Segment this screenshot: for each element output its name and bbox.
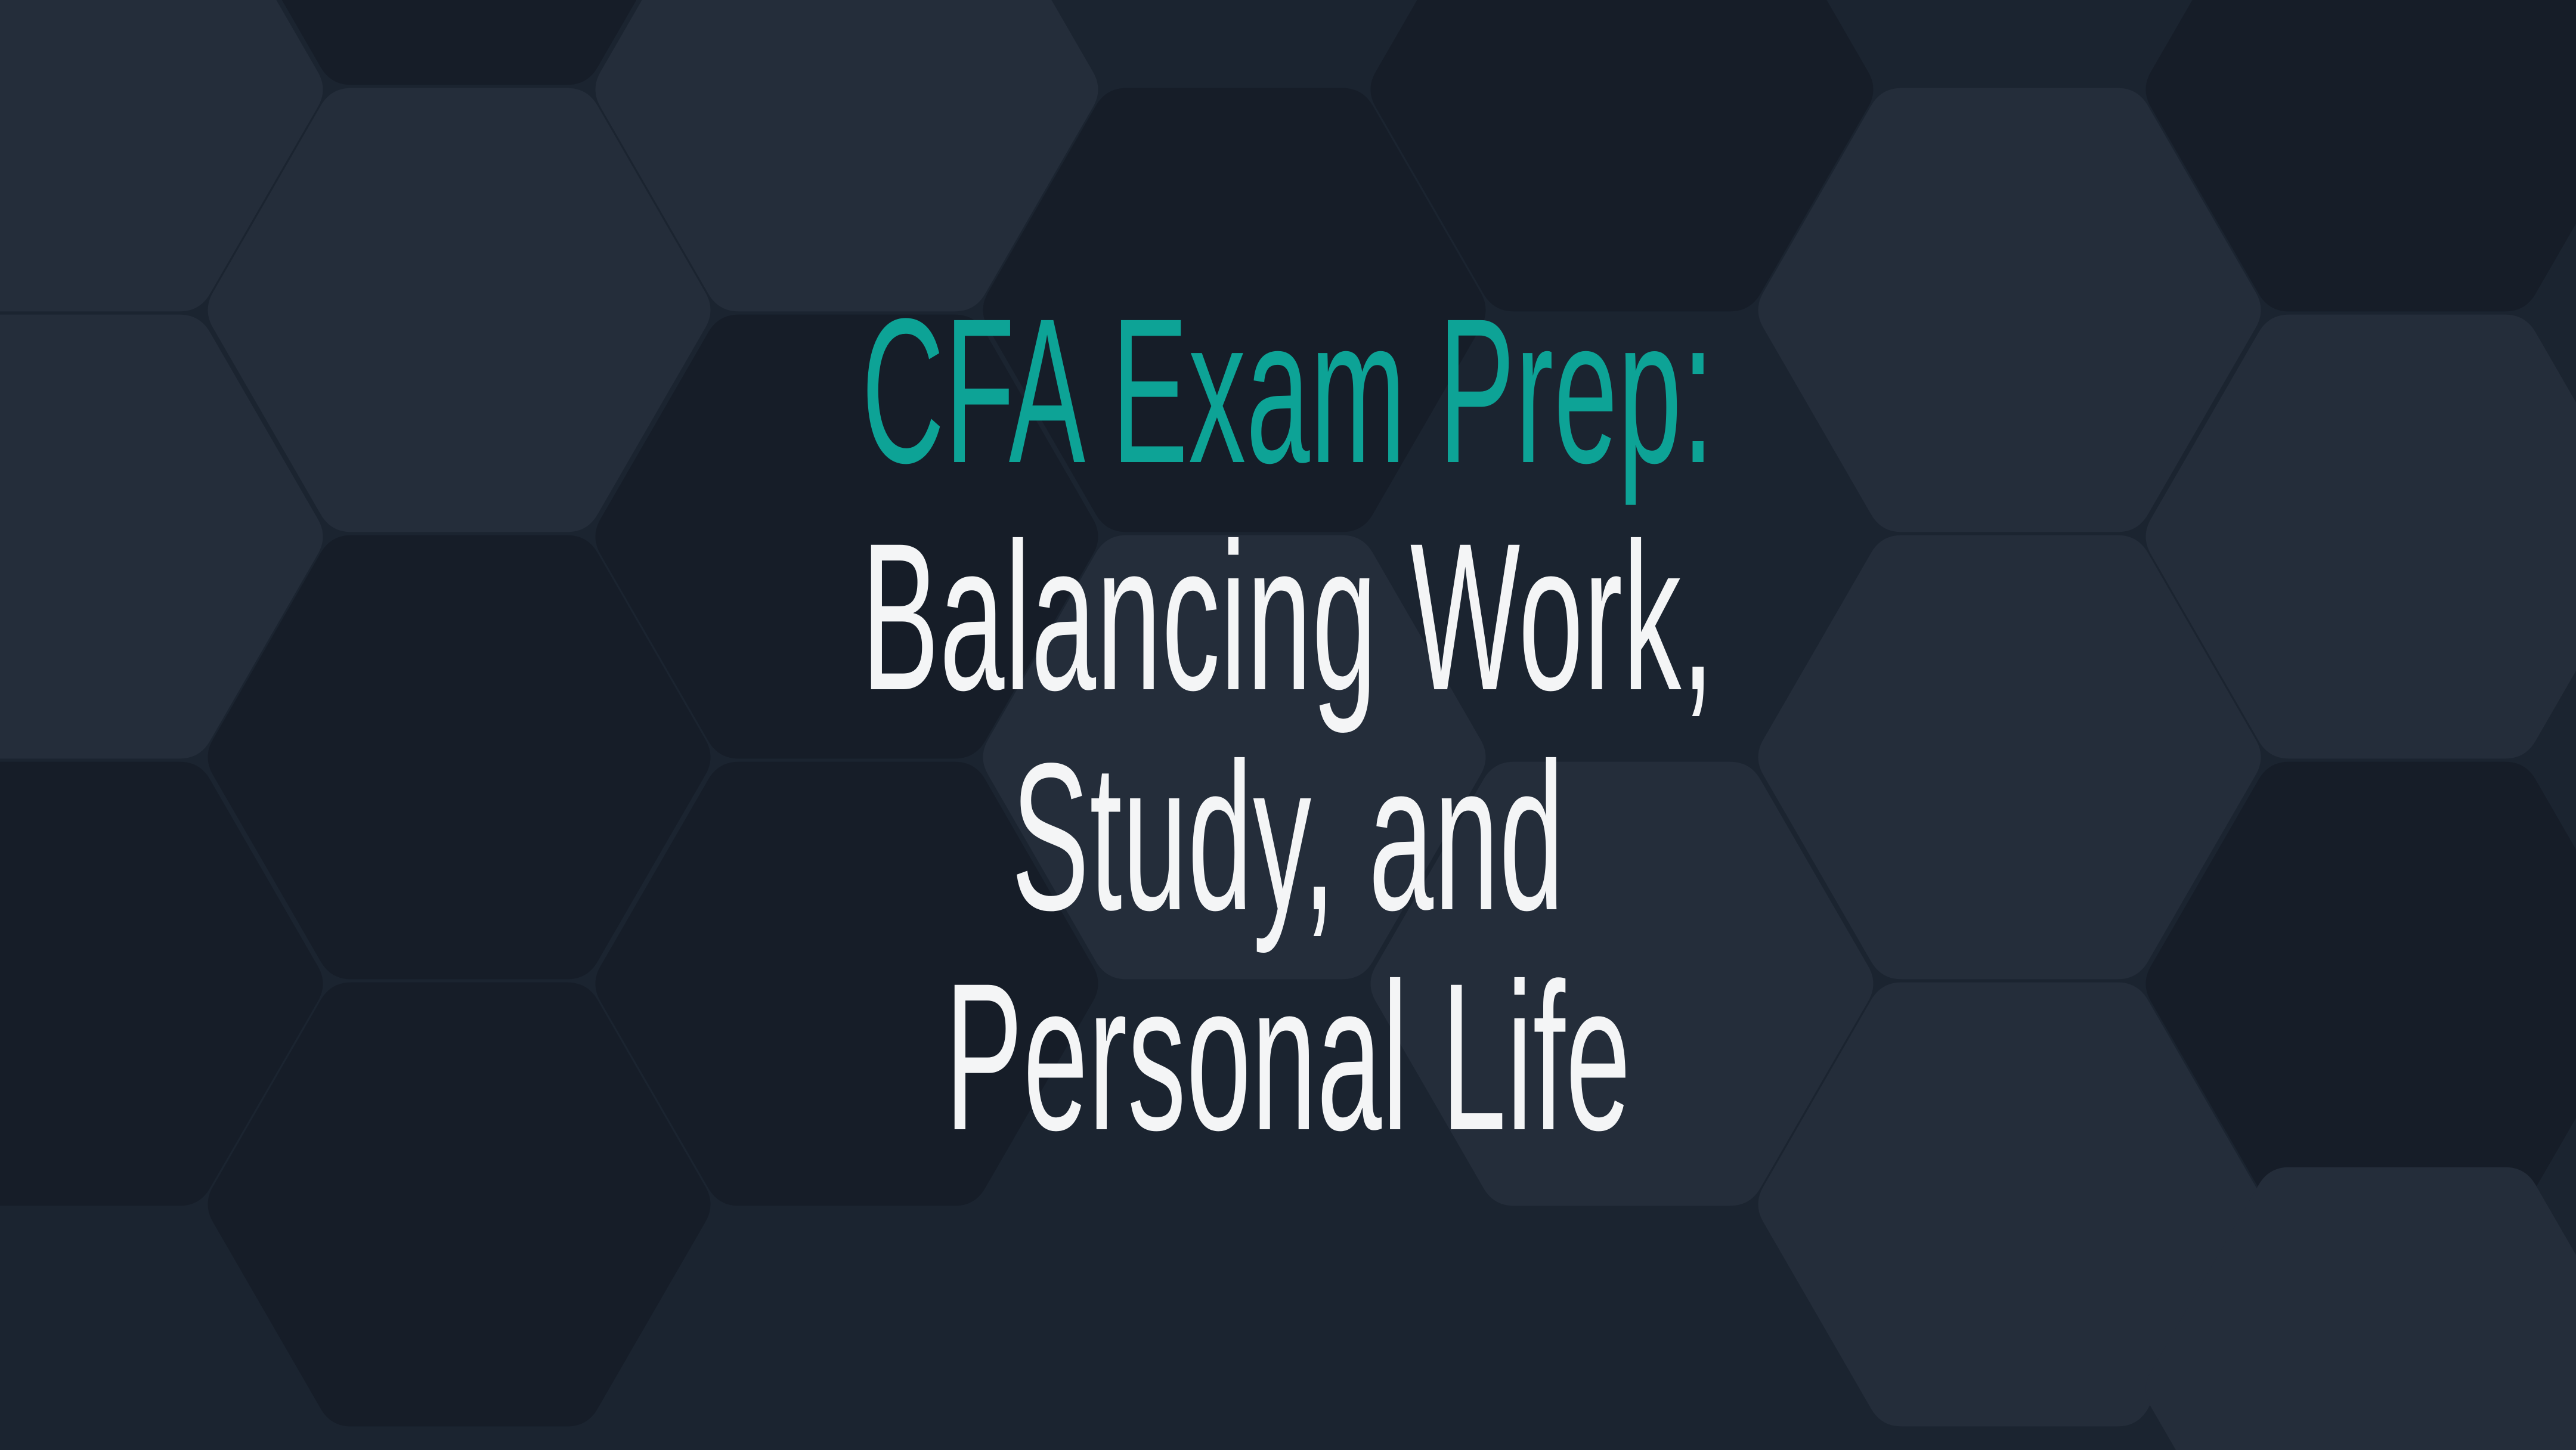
title-headline-line-3: Personal Life bbox=[633, 946, 1943, 1168]
title-card-canvas: CFA Exam Prep: Balancing Work, Study, an… bbox=[0, 0, 2576, 1450]
title-eyebrow: CFA Exam Prep: bbox=[633, 282, 1943, 501]
hexagon-cell bbox=[0, 0, 323, 311]
title-headline-line-1: Balancing Work, bbox=[633, 506, 1943, 728]
hexagon-cell bbox=[2146, 1167, 2576, 1450]
hexagon-cell bbox=[208, 0, 711, 85]
title-headline-line-2: Study, and bbox=[633, 726, 1943, 948]
hexagon-cell bbox=[2146, 0, 2576, 311]
hexagon-cell bbox=[1371, 0, 1874, 311]
title-block: CFA Exam Prep: Balancing Work, Study, an… bbox=[0, 282, 2576, 1168]
hexagon-cell bbox=[596, 0, 1098, 311]
